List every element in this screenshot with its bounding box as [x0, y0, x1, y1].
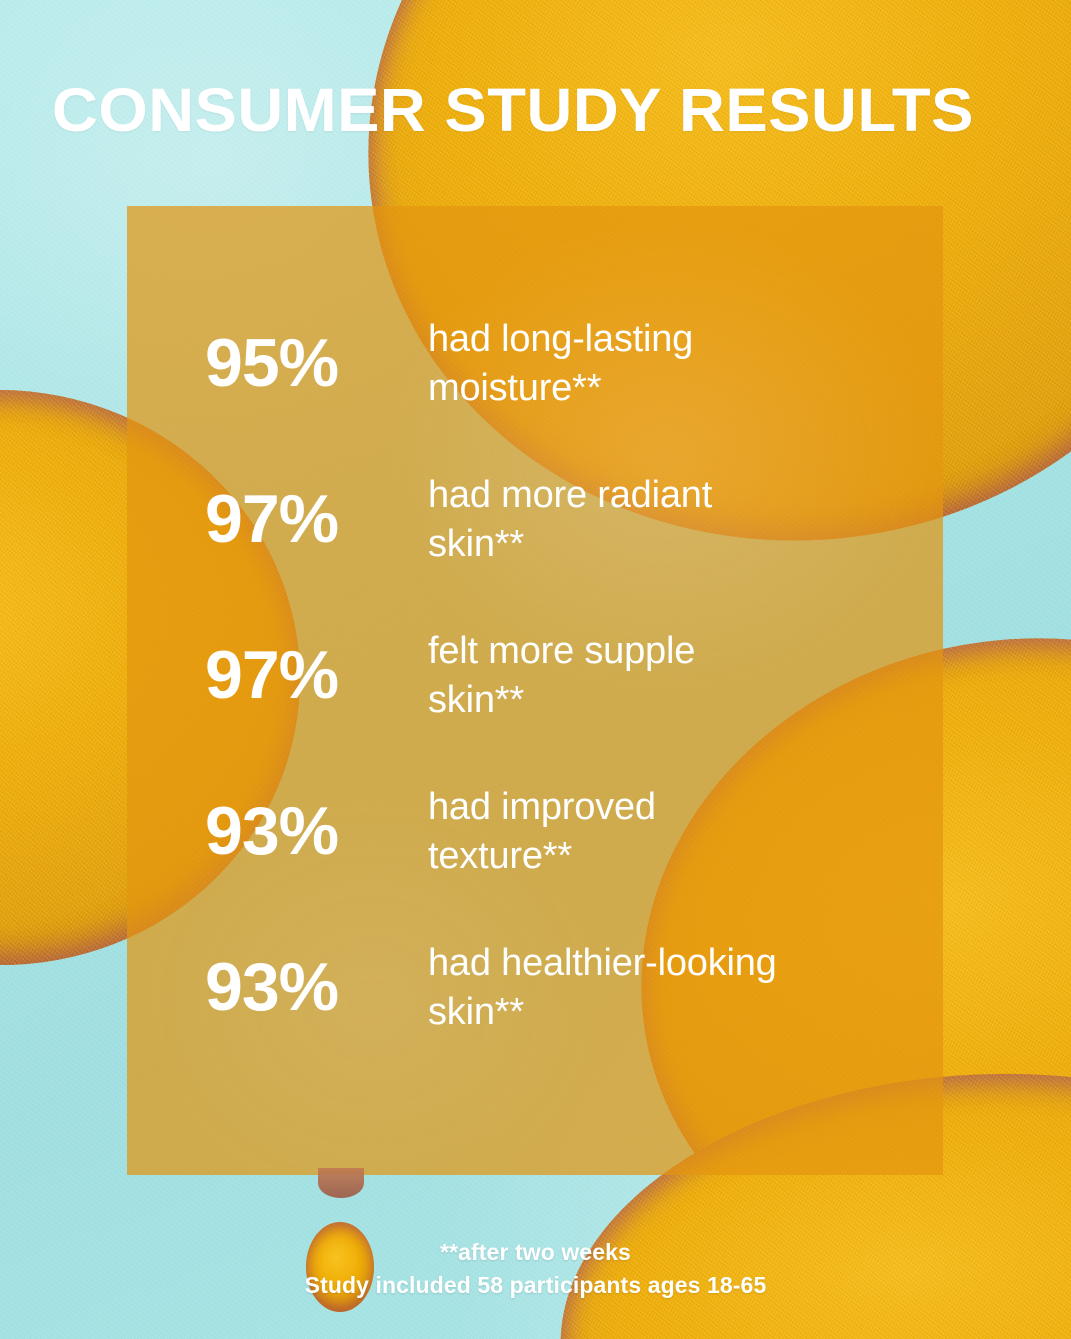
footnote-line-2: Study included 58 participants ages 18-6…: [0, 1269, 1071, 1302]
stat-row: 97% had more radiant skin**: [205, 471, 865, 627]
stat-row: 95% had long-lasting moisture**: [205, 315, 865, 471]
stat-label: had long-lasting moisture**: [428, 315, 798, 412]
consumer-study-results-graphic: CONSUMER STUDY RESULTS 95% had long-last…: [0, 0, 1071, 1339]
stat-percent: 97%: [205, 471, 428, 553]
stat-row: 97% felt more supple skin**: [205, 627, 865, 783]
stat-label: felt more supple skin**: [428, 627, 798, 724]
stat-percent: 93%: [205, 939, 428, 1021]
stat-percent: 93%: [205, 783, 428, 865]
stat-label: had more radiant skin**: [428, 471, 798, 568]
stat-label: had improved texture**: [428, 783, 798, 880]
stat-percent: 97%: [205, 627, 428, 709]
stat-label: had healthier-looking skin**: [428, 939, 798, 1036]
footnote-line-1: **after two weeks: [0, 1236, 1071, 1269]
stat-row: 93% had improved texture**: [205, 783, 865, 939]
stat-row: 93% had healthier-looking skin**: [205, 939, 865, 1095]
product-drip: [318, 1168, 364, 1198]
stat-percent: 95%: [205, 315, 428, 397]
footnotes: **after two weeks Study included 58 part…: [0, 1236, 1071, 1301]
page-title: CONSUMER STUDY RESULTS: [52, 78, 1071, 142]
stats-list: 95% had long-lasting moisture** 97% had …: [205, 315, 865, 1095]
